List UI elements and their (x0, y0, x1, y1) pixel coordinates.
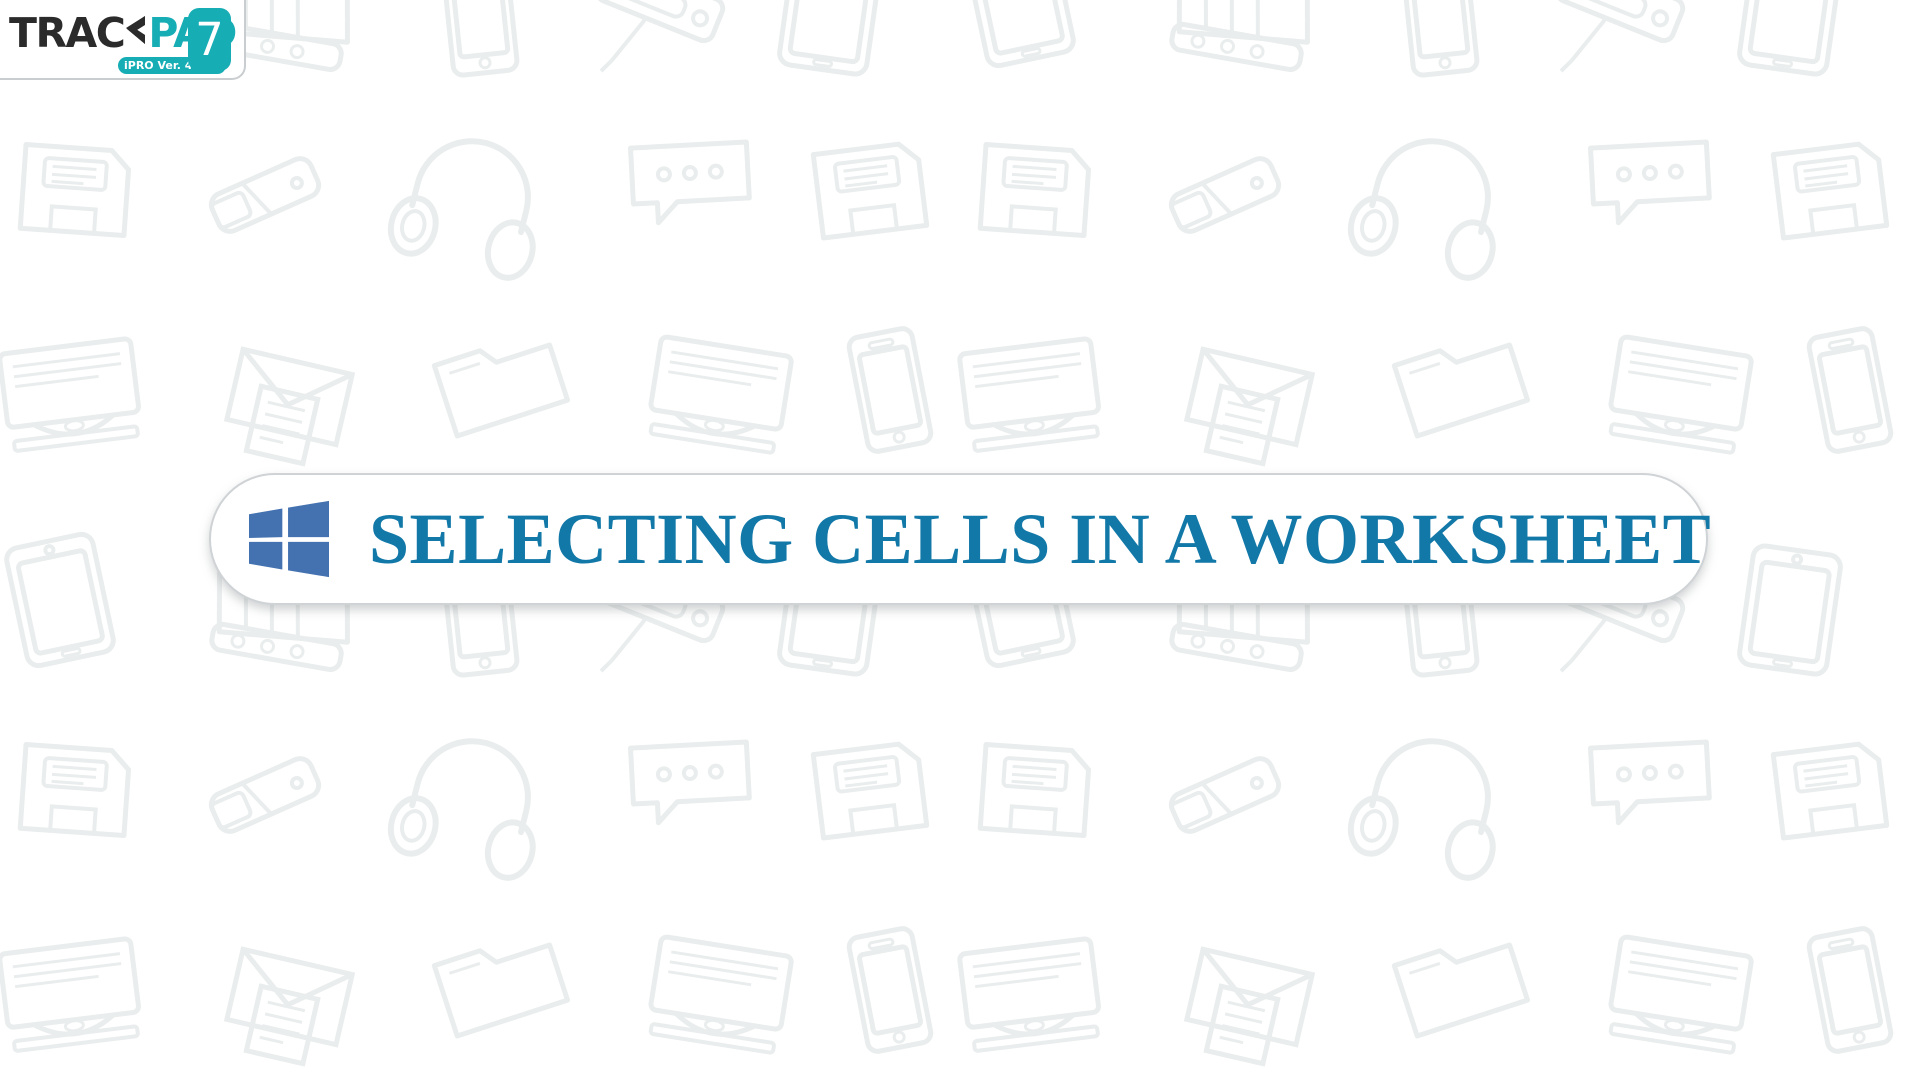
logo-wordmark-trac: TRAC (9, 9, 124, 57)
slide-canvas: TRACPAD iPRO Ver. 4.1 7 SELECTING CELLS … (0, 0, 1920, 1078)
trackpad-logo: TRACPAD iPRO Ver. 4.1 7 (0, 0, 246, 80)
windows-logo-icon (247, 499, 331, 579)
title-banner: SELECTING CELLS IN A WORKSHEET (209, 473, 1708, 605)
edition-number-badge: 7 (188, 8, 231, 71)
logo-wordmark-k-icon (124, 11, 148, 55)
page-title: SELECTING CELLS IN A WORKSHEET (369, 500, 1711, 578)
